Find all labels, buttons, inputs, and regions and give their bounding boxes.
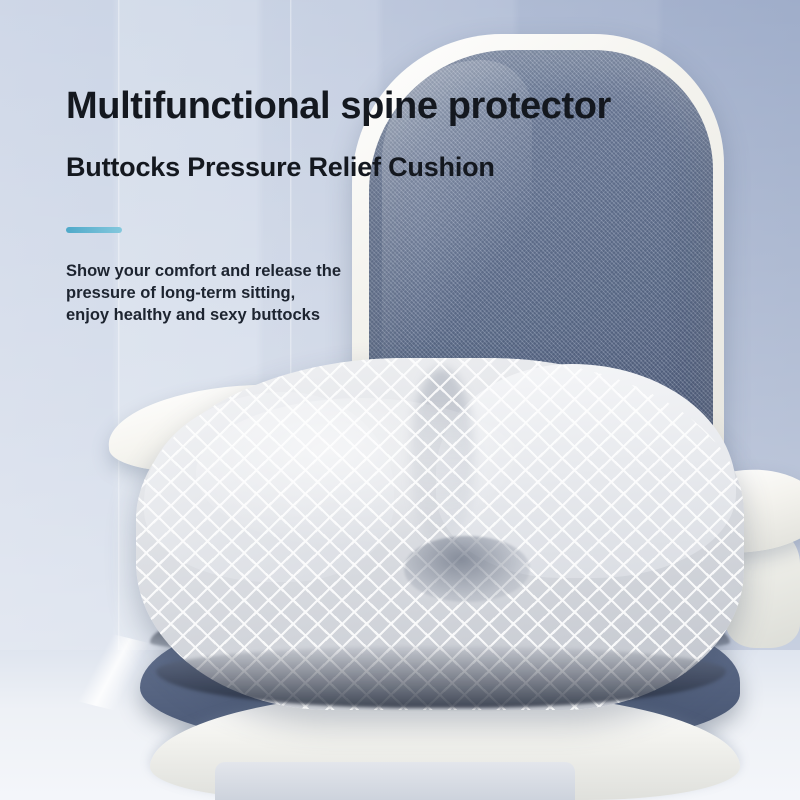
body-copy: Show your comfort and release the pressu… (66, 261, 686, 327)
cushion-highlight (196, 398, 526, 548)
chair-pedestal (215, 762, 575, 800)
product-marketing-image: Multifunctional spine protector Buttocks… (0, 0, 800, 800)
cushion-front-edge (156, 646, 726, 708)
accent-divider (66, 227, 122, 233)
cushion-coccyx-cutout (404, 536, 530, 602)
body-copy-line: enjoy healthy and sexy buttocks (66, 305, 686, 327)
seat-cushion-product (136, 358, 744, 710)
body-copy-line: Show your comfort and release the (66, 261, 686, 283)
subheadline: Buttocks Pressure Relief Cushion (66, 152, 686, 183)
marketing-copy-block: Multifunctional spine protector Buttocks… (66, 86, 686, 327)
body-copy-line: pressure of long-term sitting, (66, 283, 686, 305)
headline: Multifunctional spine protector (66, 86, 686, 128)
